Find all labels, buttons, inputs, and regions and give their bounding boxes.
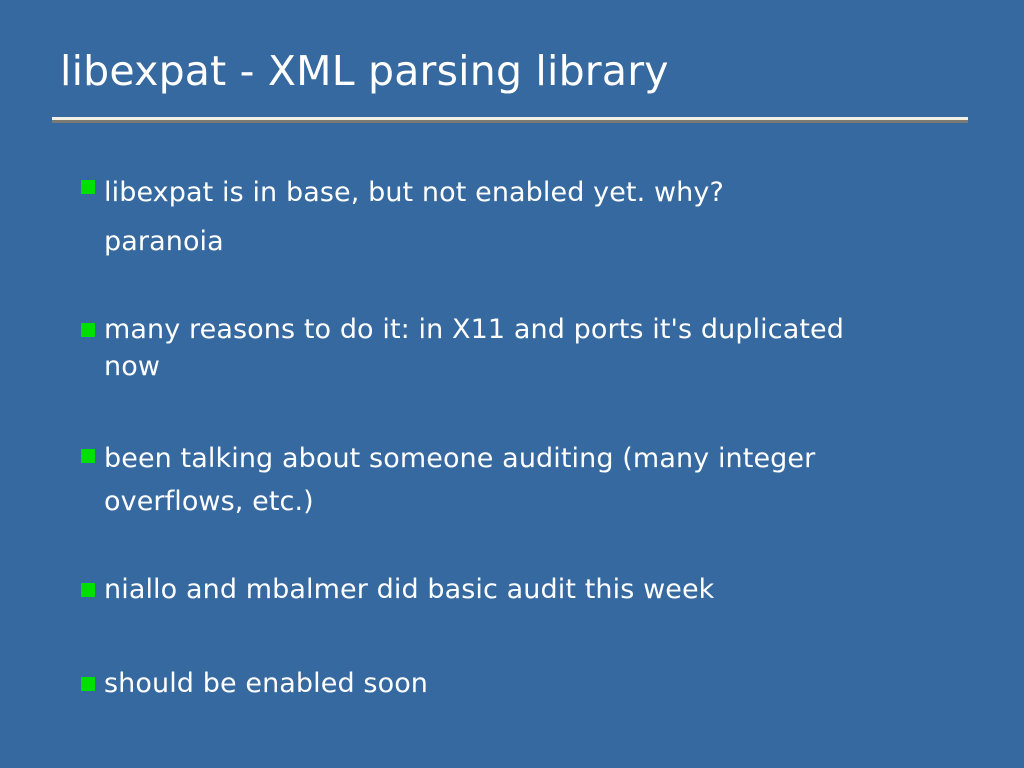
list-item-label: libexpat is in base, but not enabled yet… xyxy=(104,168,954,266)
title-divider xyxy=(52,117,968,123)
list-item: niallo and mbalmer did basic audit this … xyxy=(0,571,1024,608)
list-item: many reasons to do it: in X11 and ports … xyxy=(0,311,1024,385)
list-item: libexpat is in base, but not enabled yet… xyxy=(0,168,1024,266)
list-item: been talking about someone auditing (man… xyxy=(0,437,1024,523)
page-title: libexpat - XML parsing library xyxy=(60,44,669,98)
square-bullet-icon xyxy=(81,583,95,597)
list-item-label: should be enabled soon xyxy=(104,665,954,702)
list-item-label: many reasons to do it: in X11 and ports … xyxy=(104,311,954,385)
title-divider-shadow xyxy=(52,120,968,123)
square-bullet-icon xyxy=(81,323,95,337)
slide: libexpat - XML parsing library libexpat … xyxy=(0,0,1024,768)
list-item: should be enabled soon xyxy=(0,665,1024,702)
list-item-label: niallo and mbalmer did basic audit this … xyxy=(104,571,954,608)
square-bullet-icon xyxy=(81,677,95,691)
square-bullet-icon xyxy=(81,180,95,194)
slide-title-block: libexpat - XML parsing library xyxy=(0,44,1024,124)
bullet-list: libexpat is in base, but not enabled yet… xyxy=(0,168,1024,702)
list-item-label: been talking about someone auditing (man… xyxy=(104,437,954,523)
square-bullet-icon xyxy=(81,449,95,463)
